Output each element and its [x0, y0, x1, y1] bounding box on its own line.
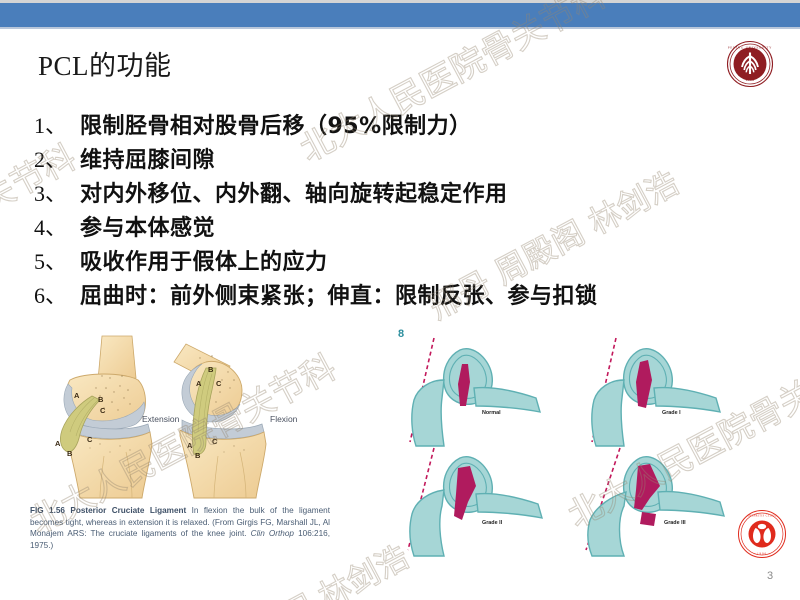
- figure-caption-title: Posterior Cruciate Ligament: [70, 506, 186, 515]
- svg-text:Grade II: Grade II: [482, 520, 503, 526]
- svg-text:Flexion: Flexion: [270, 414, 298, 424]
- svg-text:Grade III: Grade III: [664, 520, 686, 526]
- figure-caption: FIG 1.56 Posterior Cruciate Ligament In …: [30, 505, 330, 551]
- list-item-number: 6、: [34, 278, 80, 310]
- list-item-label: 对内外移位、内外翻、轴向旋转起稳定作用: [80, 176, 508, 208]
- list-item: 6、 屈曲时：前外侧束紧张；伸直：限制反张、参与扣锁: [34, 278, 774, 312]
- list-item-label: 屈曲时：前外侧束紧张；伸直：限制反张、参与扣锁: [80, 278, 598, 310]
- svg-text:PEKING UNIVERSITY: PEKING UNIVERSITY: [728, 45, 772, 49]
- flexion-knee-diagram: A B C A B C Flexion: [174, 344, 298, 498]
- peking-university-seal-icon: 1898 PEKING UNIVERSITY: [726, 40, 774, 88]
- svg-text:A: A: [196, 379, 202, 388]
- svg-text:Grade I: Grade I: [662, 410, 681, 416]
- top-accent-bar-shadow: [0, 27, 800, 29]
- list-item-number: 1、: [34, 108, 80, 140]
- svg-text:1898: 1898: [745, 78, 755, 82]
- svg-text:A: A: [187, 441, 193, 450]
- pcl-anatomy-illustration: A B C A B C Extension: [24, 332, 336, 500]
- svg-text:B: B: [98, 395, 104, 404]
- svg-text:C: C: [212, 437, 218, 446]
- top-accent-bar: [0, 3, 800, 27]
- pcl-grade-diagram: 8 Normal Grade I: [396, 328, 756, 560]
- pcl-function-list: 1、 限制胫骨相对股骨后移（95%限制力） 2、 维持屈膝间隙 3、 对内外移位…: [34, 108, 774, 312]
- list-item: 1、 限制胫骨相对股骨后移（95%限制力）: [34, 108, 774, 142]
- list-item: 5、 吸收作用于假体上的应力: [34, 244, 774, 278]
- figure-caption-label: FIG 1.56: [30, 506, 65, 515]
- grade-panel-grade-ii: Grade II: [400, 446, 575, 558]
- list-item-number: 3、: [34, 176, 80, 208]
- svg-text:B: B: [208, 365, 214, 374]
- svg-text:C: C: [216, 379, 222, 388]
- extension-knee-diagram: A B C A B C Extension: [55, 336, 180, 498]
- svg-text:B: B: [67, 449, 73, 458]
- list-item-number: 2、: [34, 142, 80, 174]
- grade-panel-grade-iii: Grade III: [580, 446, 755, 558]
- list-item: 4、 参与本体感觉: [34, 210, 774, 244]
- list-item-label: 吸收作用于假体上的应力: [80, 244, 328, 276]
- svg-text:C: C: [87, 435, 93, 444]
- page-number: 3: [767, 570, 773, 582]
- svg-text:A: A: [55, 439, 61, 448]
- list-item: 3、 对内外移位、内外翻、轴向旋转起稳定作用: [34, 176, 774, 210]
- grade-panel-normal: Normal: [400, 336, 575, 448]
- list-item-number: 5、: [34, 244, 80, 276]
- grade-panel-grade-i: Grade I: [580, 336, 755, 448]
- list-item-number: 4、: [34, 210, 80, 242]
- svg-text:Normal: Normal: [482, 410, 501, 416]
- list-item-label: 维持屈膝间隙: [80, 142, 215, 174]
- svg-text:C: C: [100, 406, 106, 415]
- list-item: 2、 维持屈膝间隙: [34, 142, 774, 176]
- svg-text:ARTHRITIS CLINIC: ARTHRITIS CLINIC: [747, 515, 777, 518]
- svg-text:Extension: Extension: [142, 414, 180, 424]
- figure-caption-journal: Clin Orthop: [251, 529, 294, 538]
- page-title: PCL的功能: [38, 44, 172, 83]
- svg-text:1996: 1996: [757, 551, 767, 555]
- arthritis-clinic-emblem-icon: 1996 ARTHRITIS CLINIC: [737, 509, 787, 559]
- slide-canvas: PCL的功能 1898 PEKING UNIVERSITY 1、 限制胫骨相对股…: [0, 0, 800, 600]
- svg-text:B: B: [195, 451, 201, 460]
- svg-text:A: A: [74, 391, 80, 400]
- list-item-label: 限制胫骨相对股骨后移（95%限制力）: [80, 108, 472, 140]
- list-item-label: 参与本体感觉: [80, 210, 215, 242]
